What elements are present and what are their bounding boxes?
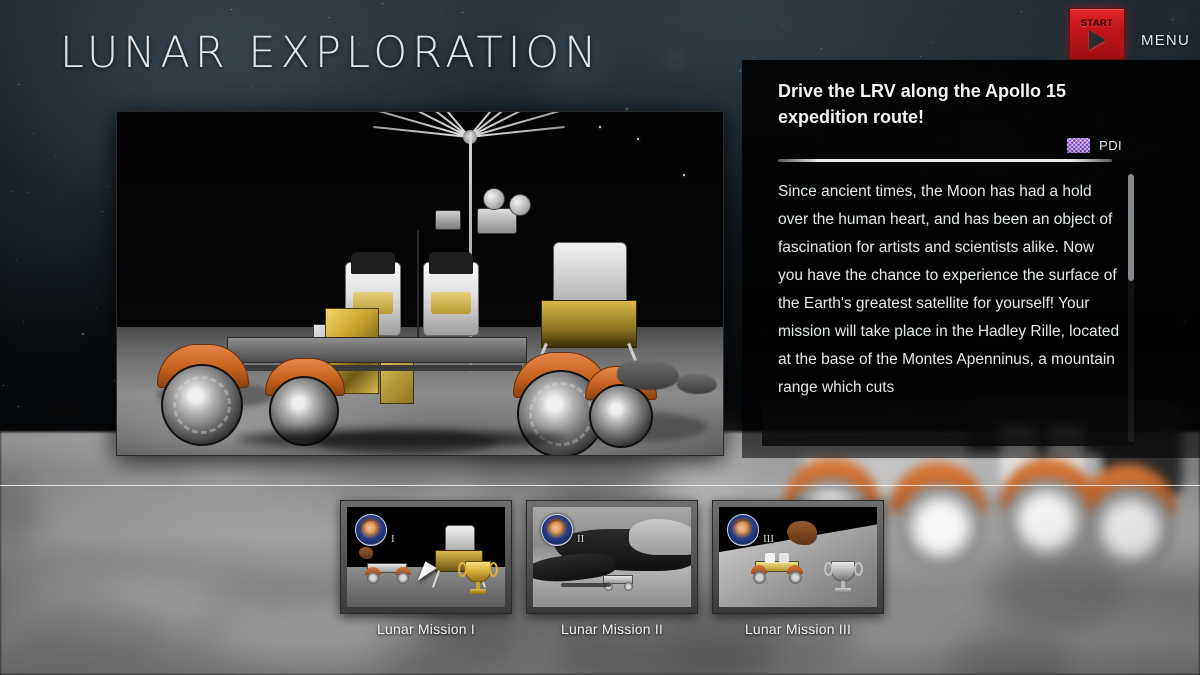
description-text: Since ancient times, the Moon has had a … [778,178,1122,402]
description-scrollbar-thumb[interactable] [1128,174,1134,281]
start-button[interactable]: START [1069,8,1125,60]
mission-numeral-1: I [391,533,395,545]
horizontal-divider [0,485,1200,486]
start-button-label: START [1081,18,1113,28]
mission-thumbnail-1-frame[interactable]: I [340,500,512,614]
description-scroll-area[interactable]: Since ancient times, the Moon has had a … [762,178,1134,446]
play-triangle-icon [1089,30,1106,50]
pdi-label: PDI [1099,138,1122,153]
mission-thumbnail-1-image: I [347,507,505,607]
pdi-badge: PDI [778,138,1122,153]
pdi-crosshatch-icon [1067,138,1090,153]
menu-button[interactable]: MENU [1141,32,1190,49]
gold-trophy-icon [465,561,491,583]
info-panel: Drive the LRV along the Apollo 15 expedi… [762,78,1134,446]
rover-icon [599,569,639,591]
mission-patch-icon [355,514,387,546]
mission-thumbnail-strip: I Lunar Mission I [337,500,887,637]
panel-heading: Drive the LRV along the Apollo 15 expedi… [778,78,1114,130]
mission-thumbnail-2-label: Lunar Mission II [561,621,663,637]
mission-patch-icon [541,514,573,546]
mission-thumbnail-3-frame[interactable]: III [712,500,884,614]
mission-thumbnail-3-image: III [719,507,877,607]
hero-image[interactable] [116,111,724,456]
mission-thumbnail-2[interactable]: II Lunar Mission II [523,500,701,637]
rover-icon [361,555,417,585]
mission-thumbnail-1-label: Lunar Mission I [377,621,475,637]
mission-thumbnail-3-label: Lunar Mission III [745,621,851,637]
silver-trophy-icon [831,561,855,582]
app-stage: LUNAR EXPLORATION START MENU [0,0,1200,675]
mission-thumbnail-2-frame[interactable]: II [526,500,698,614]
mission-thumbnail-3[interactable]: III Lunar Mission III [709,500,887,637]
mission-numeral-3: III [763,533,774,545]
rover-icon [749,553,809,585]
lunar-rover-illustration [117,112,724,456]
page-title: LUNAR EXPLORATION [60,28,601,78]
mission-patch-icon [727,514,759,546]
mission-thumbnail-1[interactable]: I Lunar Mission I [337,500,515,637]
panel-divider-rule [778,159,1112,162]
mission-numeral-2: II [577,533,584,545]
description-scrollbar-track[interactable] [1128,174,1134,442]
mission-thumbnail-2-image: II [533,507,691,607]
